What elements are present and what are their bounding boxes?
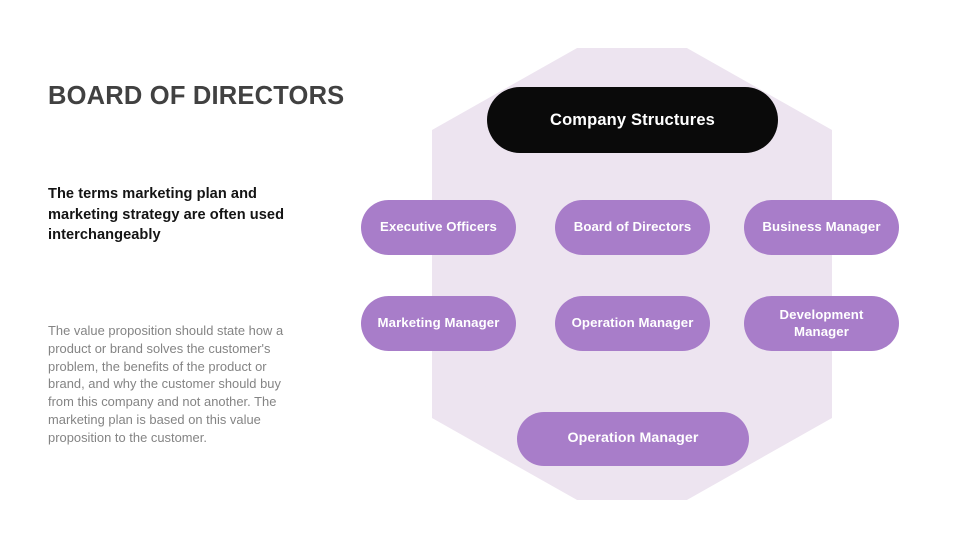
node-business-manager[interactable]: Business Manager	[744, 200, 899, 255]
subtitle-text: The terms marketing plan and marketing s…	[48, 184, 296, 246]
left-text-column: BOARD OF DIRECTORS The terms marketing p…	[48, 0, 348, 551]
org-chart-diagram: Company Structures Executive Officers Bo…	[352, 0, 980, 551]
body-paragraph: The value proposition should state how a…	[48, 322, 294, 447]
diagram-header-node[interactable]: Company Structures	[487, 87, 778, 153]
node-label: Business Manager	[762, 219, 880, 235]
node-label: Board of Directors	[574, 219, 692, 235]
diagram-header-label: Company Structures	[550, 110, 715, 130]
node-label: Marketing Manager	[378, 315, 500, 331]
node-development-manager[interactable]: Development Manager	[744, 296, 899, 351]
node-label: Operation Manager	[572, 315, 694, 331]
node-label: Executive Officers	[380, 219, 497, 235]
node-executive-officers[interactable]: Executive Officers	[361, 200, 516, 255]
node-operation-manager[interactable]: Operation Manager	[555, 296, 710, 351]
slide-canvas: BOARD OF DIRECTORS The terms marketing p…	[0, 0, 980, 551]
node-operation-manager-footer[interactable]: Operation Manager	[517, 412, 749, 466]
node-board-of-directors[interactable]: Board of Directors	[555, 200, 710, 255]
page-title: BOARD OF DIRECTORS	[48, 82, 348, 110]
node-label: Development Manager	[754, 307, 889, 339]
node-label: Operation Manager	[568, 430, 699, 447]
node-marketing-manager[interactable]: Marketing Manager	[361, 296, 516, 351]
